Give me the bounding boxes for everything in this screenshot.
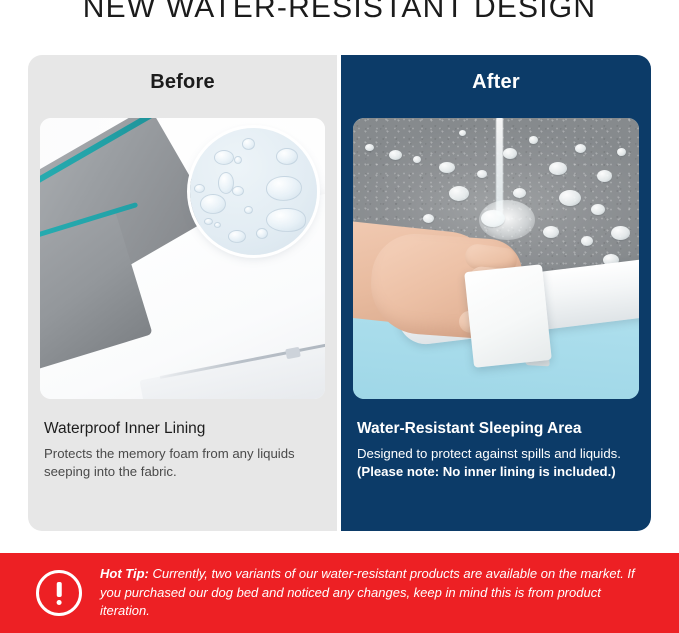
panel-after: After bbox=[341, 55, 651, 531]
water-bead bbox=[365, 144, 374, 151]
caption-after-body: Designed to protect against spills and l… bbox=[357, 445, 639, 480]
water-bead bbox=[559, 190, 581, 206]
caption-before-body: Protects the memory foam from any liquid… bbox=[44, 445, 326, 480]
exclamation-bar bbox=[57, 582, 62, 597]
foam-block bbox=[464, 264, 552, 368]
water-bead bbox=[423, 214, 434, 223]
hot-tip-body: Currently, two variants of our water-res… bbox=[100, 566, 635, 618]
water-droplet bbox=[242, 138, 255, 150]
water-bead bbox=[543, 226, 559, 238]
before-after-comparison: Before bbox=[28, 55, 651, 531]
caption-before-title: Waterproof Inner Lining bbox=[44, 419, 326, 438]
panel-before: Before bbox=[28, 55, 337, 531]
water-droplet bbox=[266, 208, 306, 232]
water-bead bbox=[549, 162, 567, 175]
photo-before bbox=[40, 118, 325, 399]
water-droplet bbox=[244, 206, 253, 214]
water-droplet bbox=[214, 222, 221, 228]
exclamation-circle-icon bbox=[36, 570, 82, 616]
droplet-magnifier-inset bbox=[190, 128, 317, 255]
water-droplet bbox=[194, 184, 205, 193]
water-bead bbox=[575, 144, 586, 153]
water-bead bbox=[513, 188, 526, 198]
hot-tip-banner: Hot Tip: Currently, two variants of our … bbox=[0, 553, 679, 633]
water-droplet bbox=[256, 228, 268, 239]
water-droplet bbox=[232, 186, 244, 196]
infographic-root: NEW WATER-RESISTANT DESIGN Before bbox=[0, 0, 679, 633]
hot-tip-label: Hot Tip: bbox=[100, 566, 149, 581]
water-bead bbox=[413, 156, 421, 163]
water-droplet bbox=[200, 194, 226, 214]
water-droplet bbox=[228, 230, 246, 243]
exclamation-dot bbox=[57, 600, 62, 605]
caption-after-body-regular: Designed to protect against spills and l… bbox=[357, 446, 621, 461]
water-bead bbox=[529, 136, 538, 144]
panel-after-heading: After bbox=[341, 71, 651, 94]
water-bead bbox=[477, 170, 487, 178]
page-title: NEW WATER-RESISTANT DESIGN bbox=[0, 0, 679, 25]
water-droplet bbox=[214, 150, 234, 165]
water-bead bbox=[503, 148, 517, 159]
panel-before-heading: Before bbox=[28, 71, 337, 94]
hot-tip-text: Hot Tip: Currently, two variants of our … bbox=[100, 565, 643, 620]
water-bead bbox=[439, 162, 455, 173]
water-bead bbox=[591, 204, 605, 215]
water-droplet bbox=[276, 148, 298, 165]
water-droplet bbox=[234, 156, 242, 164]
caption-after-title: Water-Resistant Sleeping Area bbox=[357, 419, 639, 438]
water-bead bbox=[617, 148, 626, 156]
water-bead bbox=[597, 170, 612, 182]
photo-after bbox=[353, 118, 639, 399]
caption-after-body-bold: (Please note: No inner lining is include… bbox=[357, 464, 616, 479]
water-droplet bbox=[204, 218, 213, 225]
water-bead bbox=[449, 186, 469, 201]
water-bead bbox=[481, 210, 505, 227]
water-bead bbox=[581, 236, 593, 246]
caption-before: Waterproof Inner Lining Protects the mem… bbox=[44, 419, 326, 480]
water-droplet bbox=[266, 176, 302, 201]
water-bead bbox=[389, 150, 402, 160]
caption-after: Water-Resistant Sleeping Area Designed t… bbox=[357, 419, 639, 480]
water-bead bbox=[611, 226, 630, 240]
water-bead bbox=[459, 130, 466, 136]
